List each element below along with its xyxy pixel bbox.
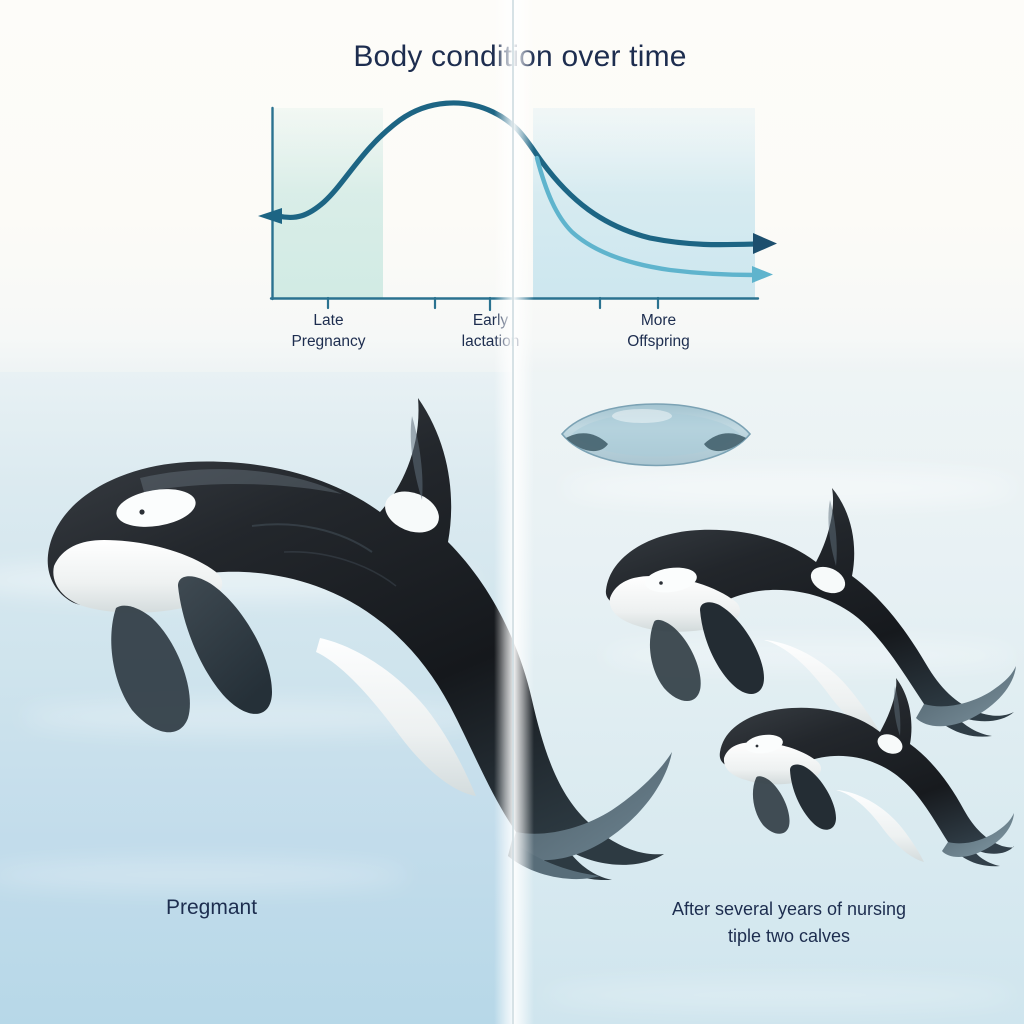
x-tick-label-line2: Offspring: [627, 333, 690, 350]
x-tick-label-early-lactation: Early lactation: [428, 310, 553, 353]
panel-divider: [494, 0, 534, 1024]
orca-pectoral-fin-far: [111, 606, 190, 733]
left-panel-caption: Pregmant: [166, 892, 257, 924]
x-tick-label-late-pregnancy: Late Pregnancy: [266, 310, 391, 353]
series-arrowhead-light: [752, 266, 773, 283]
panel-divider-line: [512, 0, 514, 1024]
illustration-canvas: Body condition over time: [0, 0, 1024, 1024]
orca-eye: [659, 581, 663, 585]
orca-belly-flank-white: [836, 790, 924, 862]
series-arrowhead-dark: [753, 233, 777, 254]
x-tick-label-line1: More: [641, 312, 676, 329]
orca-pectoral-fin-near: [178, 576, 272, 714]
orca-eye: [139, 509, 144, 514]
late-pregnancy-band: [273, 108, 383, 298]
series-arrowhead-left: [258, 208, 282, 224]
orca-pectoral-fin-far: [753, 776, 790, 834]
orca-pectoral-fin-near: [790, 764, 836, 829]
pregnant-orca: [20, 370, 680, 880]
right-panel-caption: After several years of nursing tiple two…: [639, 896, 939, 950]
right-caption-line1: After several years of nursing: [672, 899, 906, 919]
more-offspring-band: [533, 108, 755, 298]
x-tick-label-line2: Pregnancy: [291, 333, 365, 350]
orca-eye: [756, 745, 759, 748]
x-axis-ticks: [328, 298, 658, 310]
orca-pectoral-fin-far: [650, 620, 701, 701]
right-caption-line2: tiple two calves: [639, 923, 939, 950]
calf-orca: [714, 678, 1014, 868]
x-tick-label-line1: Late: [313, 312, 343, 329]
x-tick-label-more-offspring: More Offspring: [596, 310, 721, 353]
